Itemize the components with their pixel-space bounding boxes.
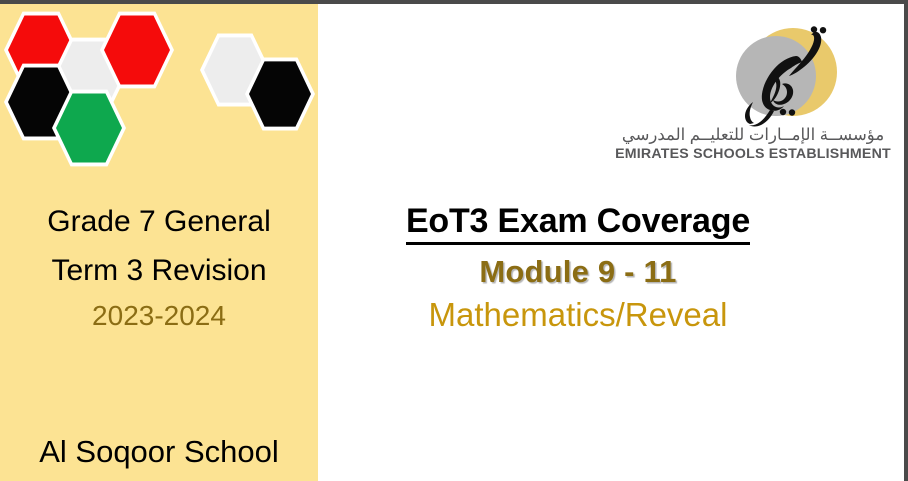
slide-canvas: Grade 7 General Term 3 Revision 2023-202… [0, 0, 908, 481]
exam-coverage-title: EoT3 Exam Coverage [406, 204, 750, 245]
subject-title: Mathematics/Reveal [318, 298, 838, 333]
grade-label: Grade 7 General [0, 207, 318, 237]
ese-arabic-name: مؤسســة الإمــارات للتعليــم المدرسي [608, 126, 898, 145]
logo-arabic-script-icon [726, 26, 836, 128]
school-name-label: Al Soqoor School [0, 436, 318, 467]
academic-year-label: 2023-2024 [0, 302, 318, 330]
ese-english-name: EMIRATES SCHOOLS ESTABLISHMENT [608, 146, 898, 163]
exam-coverage-title-wrap: EoT3 Exam Coverage [318, 204, 838, 245]
module-range-title: Module 9 - 11 [318, 256, 838, 289]
left-title-panel: Grade 7 General Term 3 Revision 2023-202… [0, 4, 318, 481]
ese-logo-mark [608, 22, 898, 128]
main-content-area: مؤسســة الإمــارات للتعليــم المدرسي EMI… [318, 4, 904, 481]
title-stack: EoT3 Exam Coverage Module 9 - 11 Mathema… [318, 204, 838, 333]
ese-logo: مؤسســة الإمــارات للتعليــم المدرسي EMI… [608, 22, 898, 163]
term-label: Term 3 Revision [0, 256, 318, 286]
